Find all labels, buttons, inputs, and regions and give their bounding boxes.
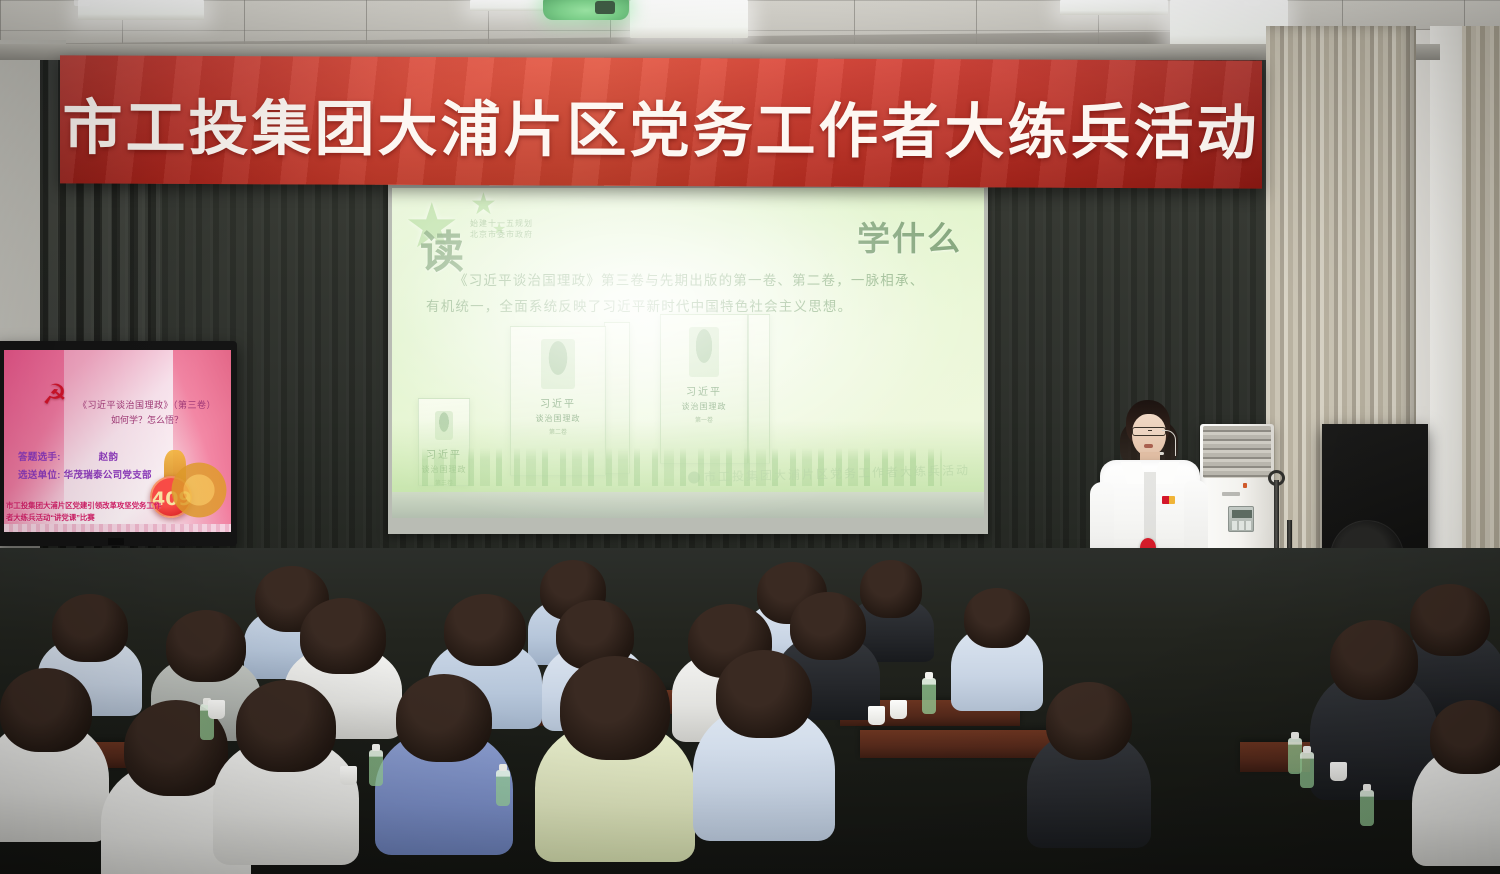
air-conditioner-logo (1222, 492, 1240, 496)
monitor-footer-line-2: 者大练兵活动“讲党课”比赛 (6, 512, 231, 524)
ceiling-projector-icon (543, 0, 629, 20)
monitor-field-label: 选送单位: (18, 470, 61, 481)
air-conditioner-buttons[interactable] (1232, 521, 1252, 530)
projection-screen: ★ ★ ★ 读 始建十一五规划北京市委市政府 学什么 《习近平谈治国理政》第三卷… (392, 188, 984, 518)
paper-cup (340, 766, 357, 785)
air-conditioner-display (1232, 510, 1252, 518)
monitor-field-organization: 选送单位: 华茂瑞泰公司党支部 (18, 467, 152, 481)
audience-member-head (716, 650, 812, 738)
audience-member-head (1410, 584, 1490, 656)
party-emblem-icon: ☭ (42, 380, 74, 410)
water-bottle (1300, 752, 1314, 788)
monitor-footer-line-1: 市工投集团大浦片区党建引领改革攻坚党务工作 (6, 500, 231, 512)
audience-member-head (52, 594, 128, 662)
slide-body-text: 《习近平谈治国理政》第三卷与先期出版的第一卷、第二卷，一脉相承、 有机统一，全面… (426, 268, 956, 320)
star-icon: ★ (470, 190, 497, 220)
glasses-icon (1132, 427, 1166, 436)
paper-cup (868, 706, 885, 725)
ceiling-light-panel (1060, 0, 1168, 15)
ceiling-light-panel (630, 0, 748, 38)
monitor-field-contestant: 答题选手:赵韵 (18, 449, 118, 463)
monitor-title-line-2: 如何学？怎么悟？ (72, 413, 222, 426)
book-title: 习近平 (511, 395, 605, 410)
book-portrait (541, 339, 575, 389)
monitor-field-value: 赵韵 (99, 452, 119, 463)
party-emblem-pin-icon (1162, 496, 1175, 504)
paper-cup (890, 700, 907, 719)
monitor-stand (108, 538, 124, 545)
audience-member-head (0, 668, 92, 752)
watermark-dot-icon (688, 471, 700, 483)
monitor-bottom-strip (4, 524, 231, 532)
audience-member-head (1046, 682, 1132, 760)
side-curtain-far-right (1462, 26, 1500, 626)
event-banner: 市工投集团大浦片区党务工作者大练兵活动 (60, 55, 1262, 188)
headset-microphone-icon (1162, 430, 1176, 456)
banner-tie-tab (74, 0, 90, 6)
banner-tie-tab (1244, 0, 1260, 6)
audience-area (0, 548, 1500, 874)
book-title: 习近平 (661, 383, 747, 398)
book-portrait (689, 327, 720, 377)
ceiling-light-panel (78, 0, 204, 20)
contestant-monitor[interactable]: ☭ 《习近平谈治国理政》（第三卷） 如何学？怎么悟？ 答题选手:赵韵 选送单位:… (4, 350, 231, 532)
air-conditioner-led-icon (1243, 483, 1247, 488)
screen-bottom-edge (392, 492, 984, 518)
slide-right-mark: 学什么 (857, 212, 962, 260)
audience-member-head (444, 594, 526, 666)
audience-member-head (236, 680, 336, 772)
audience-member-head (860, 560, 922, 618)
slide-left-mark-sub: 始建十一五规划北京市委市政府 (470, 218, 533, 240)
slide-body-line-1: 《习近平谈治国理政》第三卷与先期出版的第一卷、第二卷，一脉相承、 (426, 268, 956, 294)
event-banner-title: 市工投集团大浦片区党务工作者大练兵活动 (60, 79, 1262, 171)
water-bottle (496, 770, 510, 806)
water-bottle (369, 750, 383, 786)
conference-hall-photo: ★ ★ ★ 读 始建十一五规划北京市委市政府 学什么 《习近平谈治国理政》第三卷… (0, 0, 1500, 874)
monitor-title-line-1: 《习近平谈治国理政》（第三卷） (72, 398, 222, 411)
water-bottle (1360, 790, 1374, 826)
paper-cup (1330, 762, 1347, 781)
paper-cup (208, 700, 225, 719)
audience-member-head (396, 674, 492, 762)
audience-member-head (790, 592, 866, 660)
projector-lens (595, 1, 615, 14)
audience-member-head (300, 598, 386, 674)
audience-member-head (1330, 620, 1418, 700)
monitor-footer: 市工投集团大浦片区党建引领改革攻坚党务工作 者大练兵活动“讲党课”比赛 (4, 500, 231, 524)
air-conditioner-control-panel[interactable] (1228, 506, 1254, 532)
audience-member-head (560, 656, 670, 760)
book-subtitle: 谈治国理政 (661, 401, 747, 412)
audience-member-head (964, 588, 1030, 648)
presenter-mouth (1144, 444, 1153, 448)
water-bottle (922, 678, 936, 714)
audience-member-head (166, 610, 246, 682)
audience-member-head (1430, 700, 1500, 774)
monitor-field-label: 答题选手: (18, 452, 61, 463)
monitor-field-value: 华茂瑞泰公司党支部 (64, 470, 152, 481)
